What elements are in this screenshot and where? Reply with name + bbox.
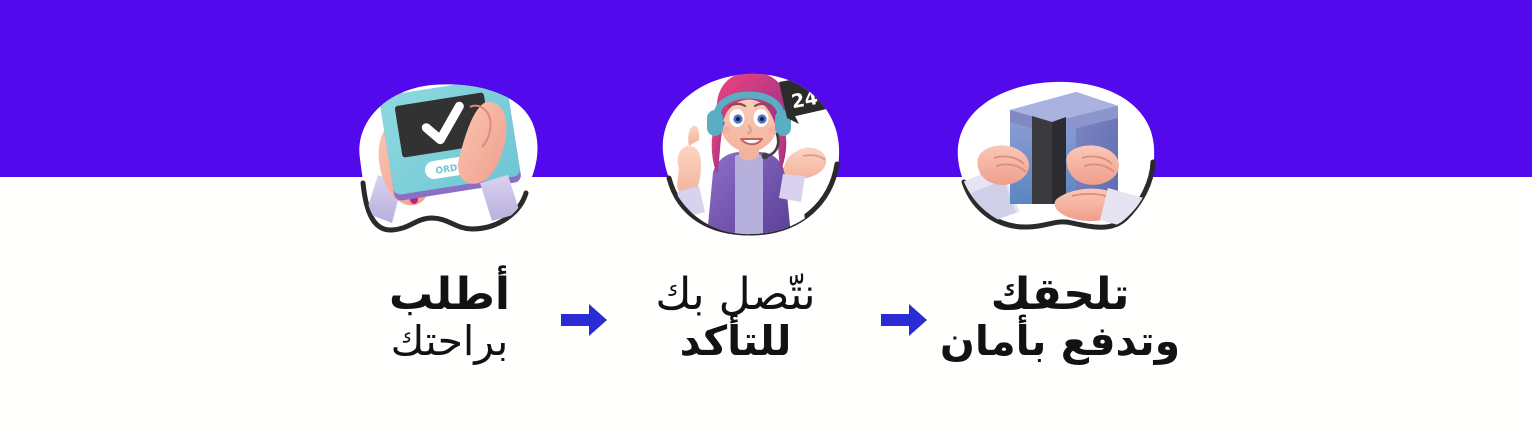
step-caption-contact-line2: للتأكد bbox=[628, 319, 843, 365]
step-caption-contact: نتّصل بك للتأكد bbox=[628, 270, 843, 365]
step-caption-contact-line1: نتّصل بك bbox=[628, 270, 843, 319]
step-caption-deliver-line2: وتدفع بأمان bbox=[915, 319, 1205, 365]
step-arrow-1 bbox=[559, 301, 609, 339]
step-caption-deliver: تلحقك وتدفع بأمان bbox=[915, 270, 1205, 365]
support-24-badge-label: 24 bbox=[790, 87, 820, 113]
how-it-works-banner: ORDER bbox=[0, 0, 1532, 433]
tablet-order-hands-illustration: ORDER bbox=[348, 63, 548, 243]
step-caption-order-line1: أطلب bbox=[352, 270, 547, 319]
step-caption-order-line2: براحتك bbox=[352, 319, 547, 365]
step-caption-deliver-line1: تلحقك bbox=[915, 270, 1205, 319]
gift-box-handover-illustration bbox=[948, 62, 1163, 244]
step-caption-order: أطلب براحتك bbox=[352, 270, 547, 365]
support-agent-headset-illustration: 24 bbox=[655, 60, 845, 243]
steps-row: ORDER bbox=[0, 0, 1532, 433]
